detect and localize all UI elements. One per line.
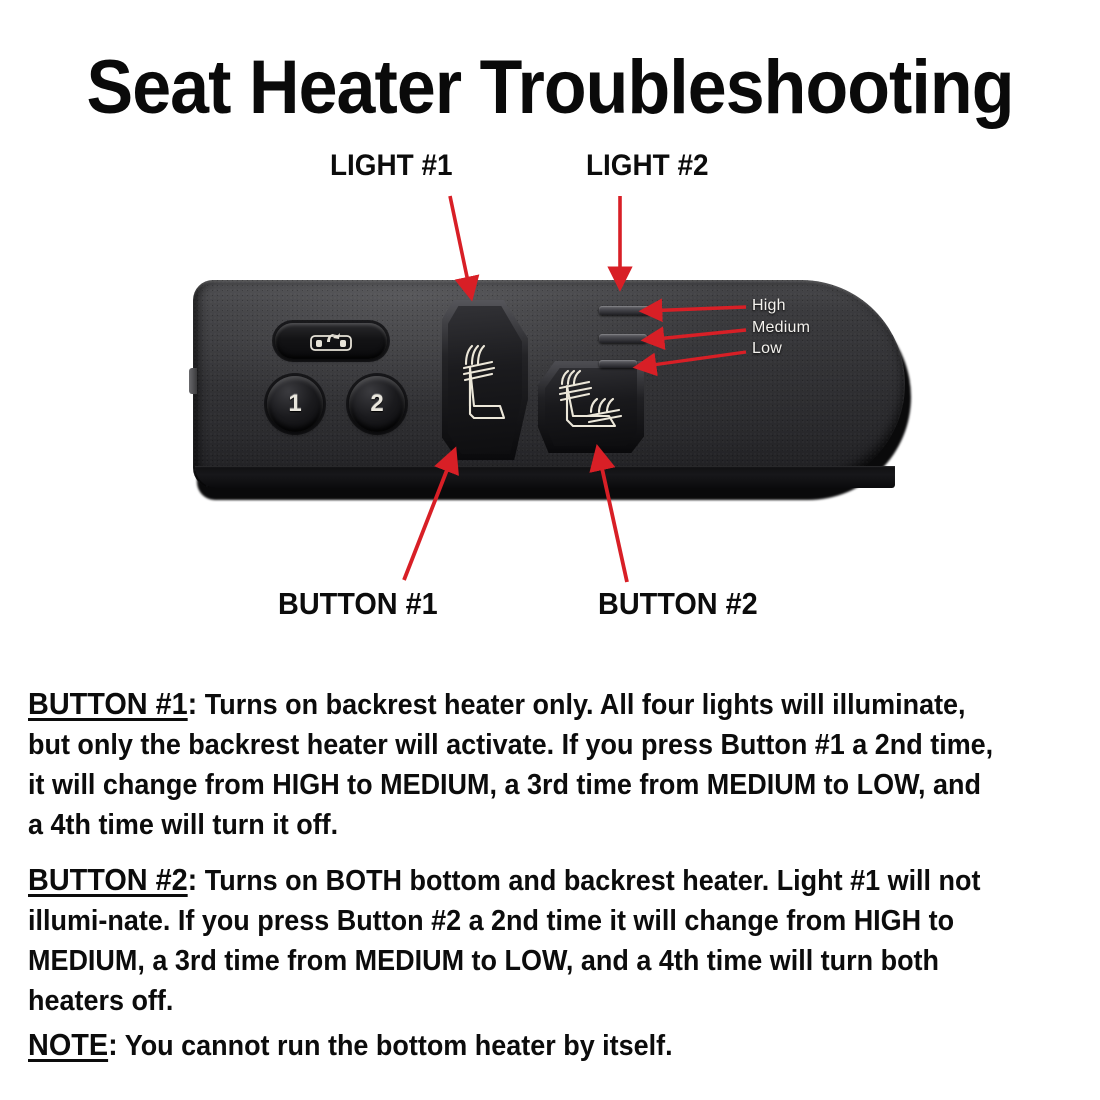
instruction-paragraph-button-2: BUTTON #2: Turns on BOTH bottom and back… — [28, 860, 999, 1021]
full-seat-heater-icon — [545, 368, 637, 446]
instruction-lead-button-2: BUTTON #2 — [28, 862, 188, 897]
instruction-text-note: You cannot run the bottom heater by itse… — [118, 1030, 673, 1062]
instruction-paragraph-button-1: BUTTON #1: Turns on backrest heater only… — [28, 684, 999, 845]
instruction-lead-colon-2: : — [188, 862, 198, 897]
instruction-lead-colon-1: : — [188, 686, 198, 721]
seat-heater-control-panel: 1 2 — [193, 280, 915, 502]
panel-bottom-lip — [195, 466, 895, 488]
indicator-light-high — [599, 306, 651, 315]
callout-label-light-2: LIGHT #2 — [586, 150, 708, 182]
seat-memory-button[interactable] — [275, 323, 387, 359]
instruction-lead-button-1: BUTTON #1 — [28, 686, 188, 721]
button-2-full-seat-heater[interactable] — [545, 368, 637, 446]
instruction-lead-colon-note: : — [108, 1027, 118, 1062]
indicator-light-medium — [599, 334, 647, 343]
page-title: Seat Heater Troubleshooting — [44, 46, 1056, 130]
callout-label-light-1: LIGHT #1 — [330, 150, 452, 182]
level-label-low: Low — [752, 340, 782, 358]
seat-heater-troubleshooting-page: Seat Heater Troubleshooting LIGHT #1 LIG… — [0, 0, 1100, 1100]
seat-preset-button-1[interactable]: 1 — [267, 376, 323, 432]
instruction-lead-note: NOTE — [28, 1027, 108, 1062]
seat-memory-icon — [305, 329, 357, 353]
backrest-heater-seat-icon — [448, 306, 522, 454]
button-1-backrest-heater[interactable] — [448, 306, 522, 454]
indicator-light-low — [599, 360, 637, 368]
seat-preset-button-2[interactable]: 2 — [349, 376, 405, 432]
instruction-paragraph-note: NOTE: You cannot run the bottom heater b… — [28, 1025, 999, 1066]
callout-label-button-1: BUTTON #1 — [278, 588, 438, 620]
callout-label-button-2: BUTTON #2 — [598, 588, 758, 620]
level-label-medium: Medium — [752, 319, 810, 337]
level-label-high: High — [752, 297, 786, 315]
panel-side-tab — [189, 368, 197, 394]
